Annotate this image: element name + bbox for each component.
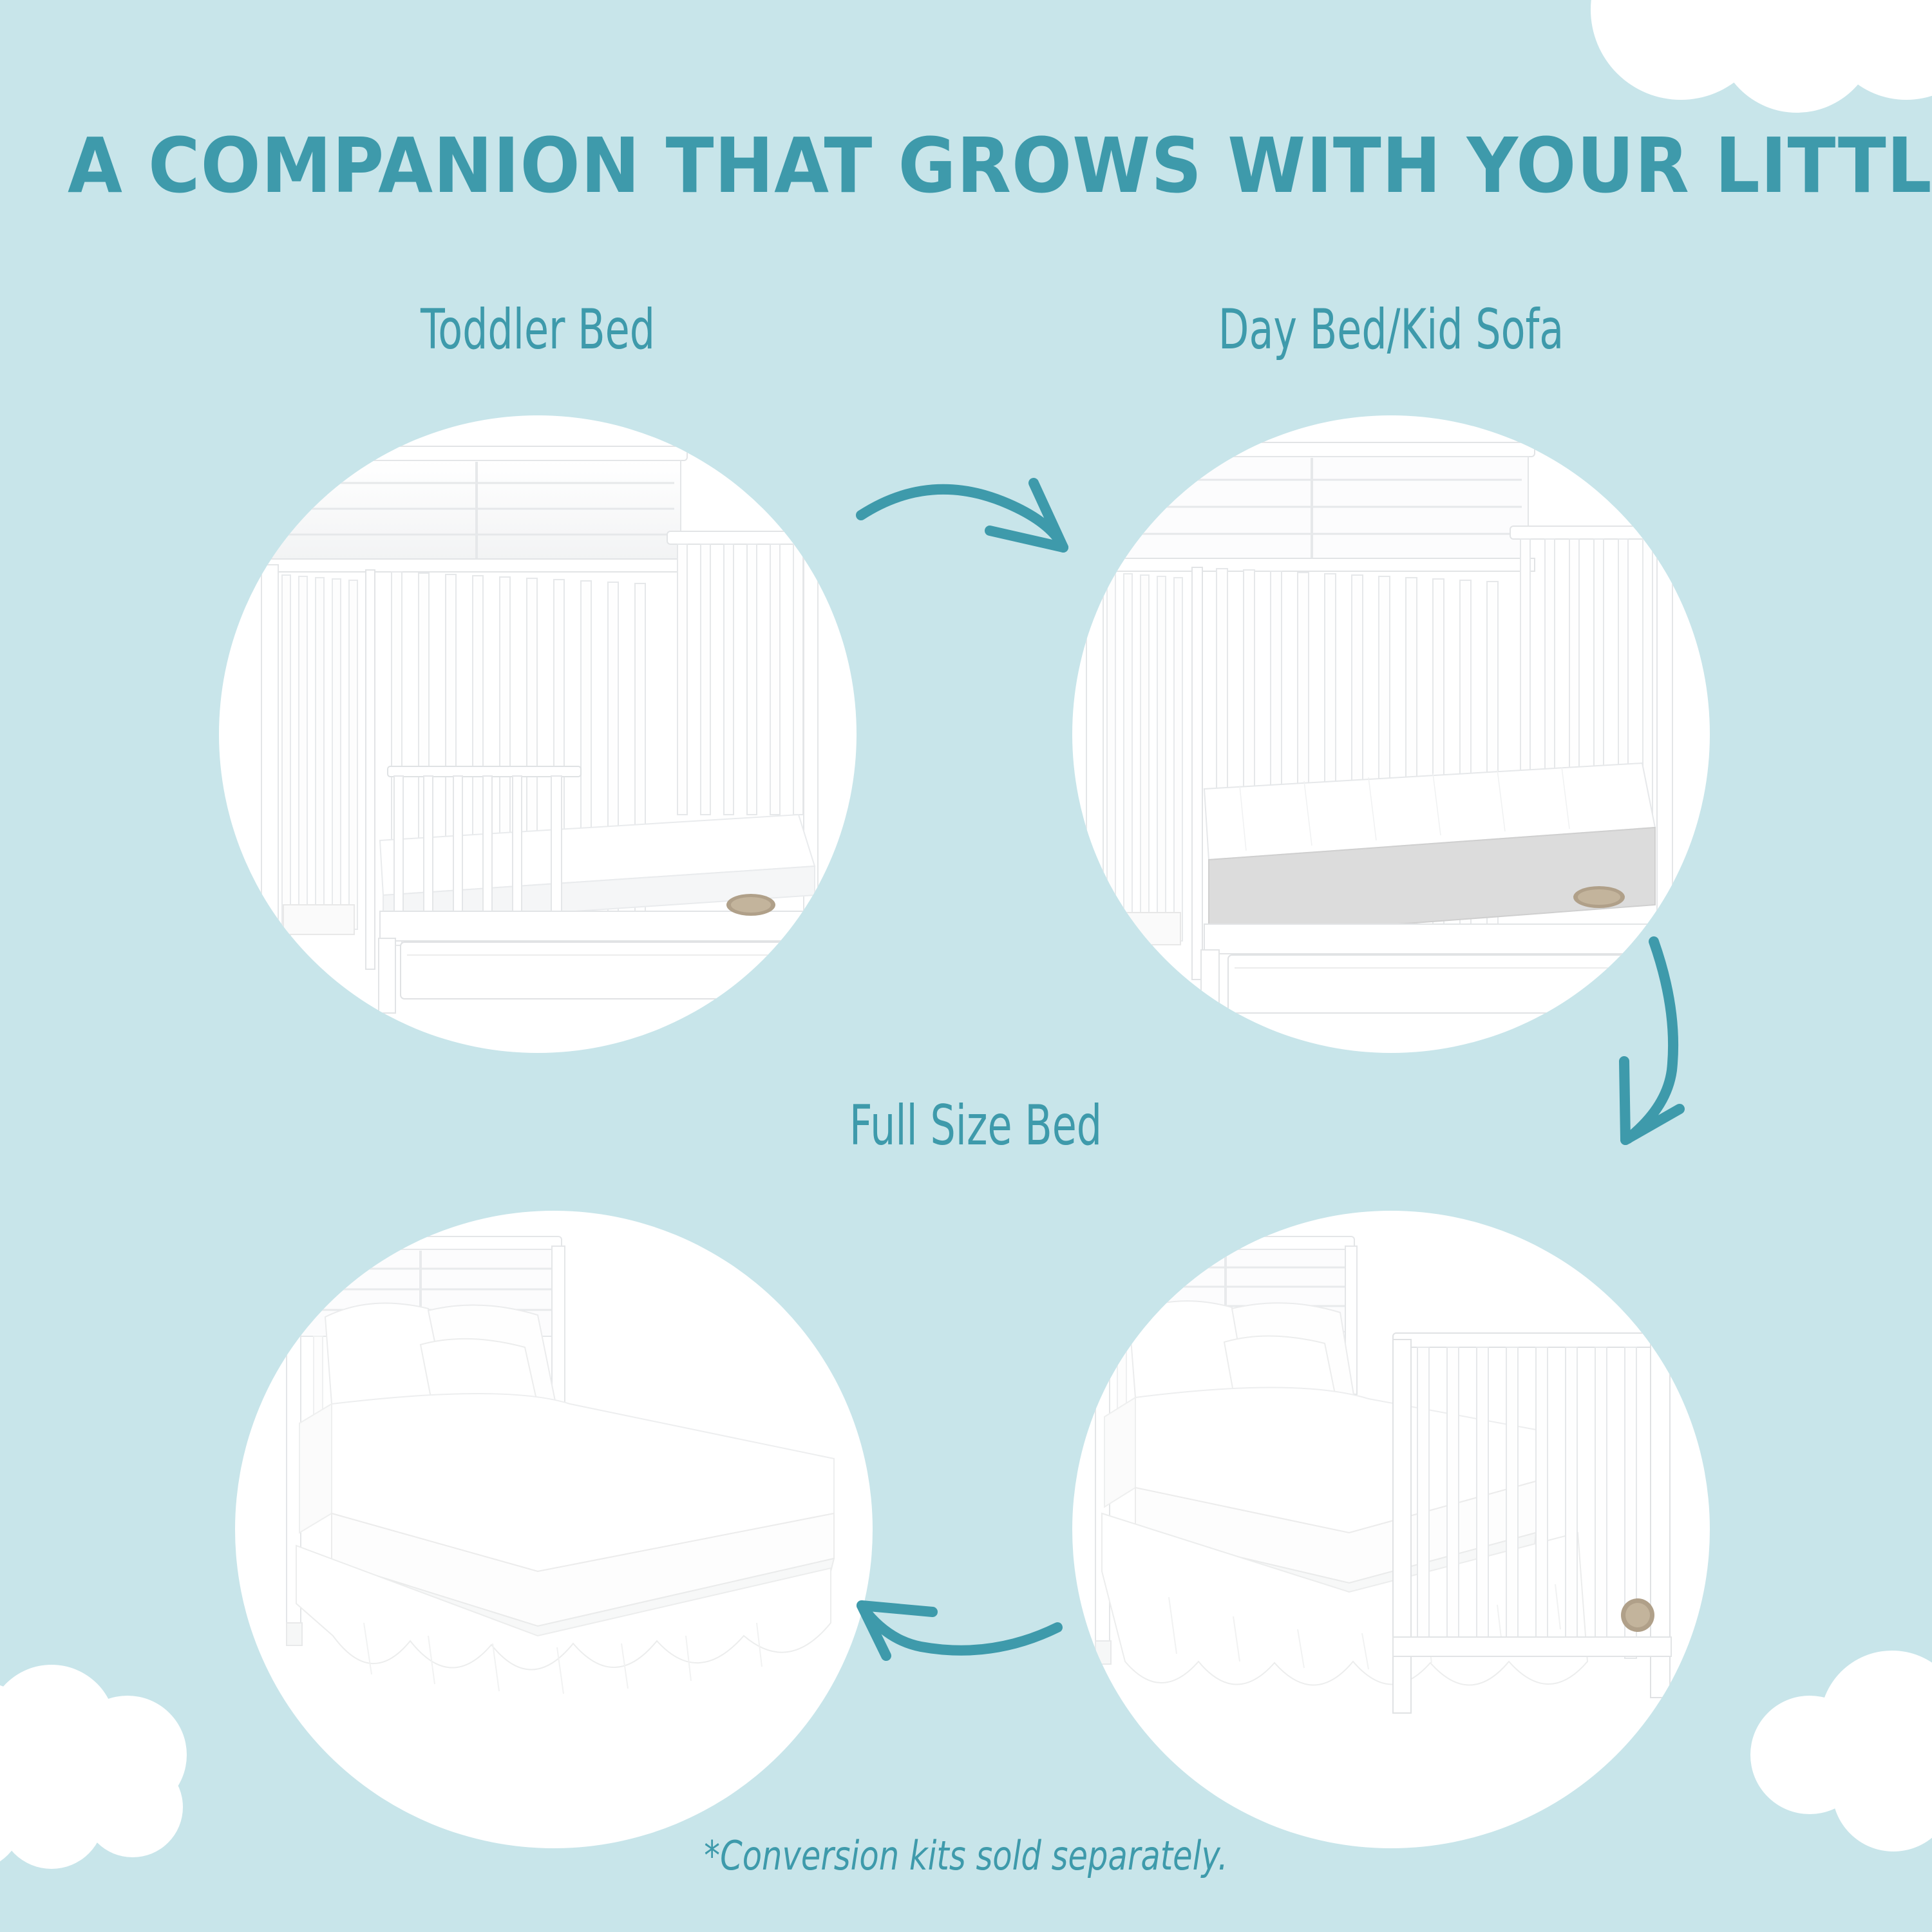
photo-disc-toddler-bed	[219, 415, 857, 1053]
full-size-bed-with-footboard-photo	[1072, 1211, 1710, 1848]
page-title: A COMPANION THAT GROWS WITH YOUR LITTLE …	[68, 121, 1864, 210]
crib-toddler-bed-photo	[219, 415, 857, 1053]
curved-arrow-down-icon	[1604, 934, 1797, 1185]
infographic-canvas: A COMPANION THAT GROWS WITH YOUR LITTLE …	[0, 0, 1932, 1932]
stage-label-full-size-bed: Full Size Bed	[744, 1094, 1207, 1158]
photo-disc-full-size-bed-with-footboard	[1072, 1211, 1710, 1848]
photo-disc-full-size-bed	[235, 1211, 873, 1848]
curved-arrow-right-icon	[847, 464, 1117, 605]
stage-label-day-bed: Day Bed/Kid Sofa	[1159, 298, 1623, 362]
cloud-bottom-right	[1732, 1645, 1932, 1858]
curved-arrow-left-icon	[831, 1581, 1088, 1710]
full-size-bed-photo	[235, 1211, 873, 1848]
stage-label-toddler-bed: Toddler Bed	[306, 298, 770, 362]
footnote-text: *Conversion kits sold separately.	[193, 1832, 1739, 1879]
